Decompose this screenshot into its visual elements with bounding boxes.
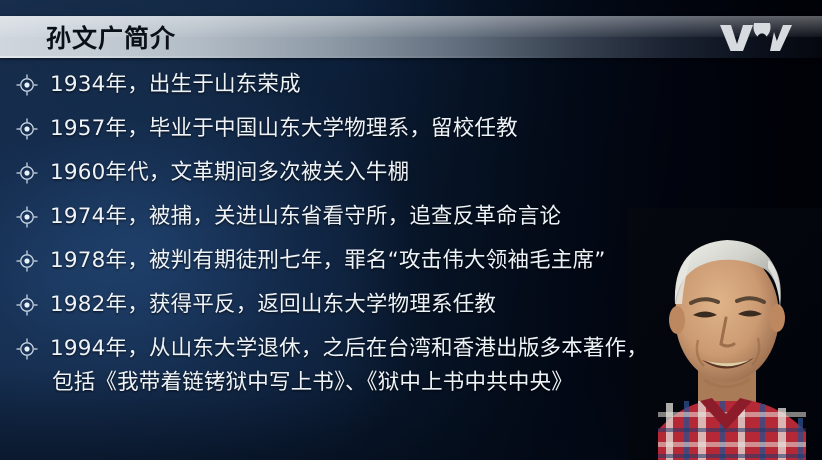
list-item-text: 1934年，出生于山东荣成 [50, 68, 700, 102]
list-item: 1994年，从山东大学退休，之后在台湾和香港出版多本著作， 包括《我带着链铐狱中… [0, 332, 700, 400]
list-item-body: 1957年，毕业于中国山东大学物理系，留校任教 [50, 112, 700, 146]
crosshair-icon [16, 250, 38, 272]
list-item-text-continued: 包括《我带着链铐狱中写上书》、《狱中上书中共中央》 [50, 366, 700, 400]
list-item-text: 1994年，从山东大学退休，之后在台湾和香港出版多本著作， [50, 332, 700, 366]
crosshair-icon [16, 294, 38, 316]
list-item-text: 1957年，毕业于中国山东大学物理系，留校任教 [50, 112, 700, 146]
list-item: 1974年，被捕，关进山东省看守所，追查反革命言论 [0, 200, 700, 234]
list-item-text: 1974年，被捕，关进山东省看守所，追查反革命言论 [50, 200, 700, 234]
list-item-text: 1960年代，文革期间多次被关入牛棚 [50, 156, 700, 190]
list-item: 1934年，出生于山东荣成 [0, 68, 700, 102]
list-item-body: 1994年，从山东大学退休，之后在台湾和香港出版多本著作， 包括《我带着链铐狱中… [50, 332, 700, 400]
presentation-slide: 孙文广简介 [0, 0, 822, 460]
list-item: 1978年，被判有期徒刑七年，罪名“攻击伟大领袖毛主席” [0, 244, 700, 278]
crosshair-icon [16, 338, 38, 360]
list-item-body: 1974年，被捕，关进山东省看守所，追查反革命言论 [50, 200, 700, 234]
list-item-body: 1934年，出生于山东荣成 [50, 68, 700, 102]
page-title: 孙文广简介 [46, 19, 176, 55]
crosshair-icon [16, 118, 38, 140]
list-item-body: 1960年代，文革期间多次被关入牛棚 [50, 156, 700, 190]
list-item: 1957年，毕业于中国山东大学物理系，留校任教 [0, 112, 700, 146]
crosshair-icon [16, 162, 38, 184]
title-bar: 孙文广简介 [0, 16, 822, 58]
crosshair-icon [16, 74, 38, 96]
list-item: 1960年代，文革期间多次被关入牛棚 [0, 156, 700, 190]
crosshair-icon [16, 206, 38, 228]
list-item-text: 1982年，获得平反，返回山东大学物理系任教 [50, 288, 700, 322]
list-item: 1982年，获得平反，返回山东大学物理系任教 [0, 288, 700, 322]
list-item-body: 1978年，被判有期徒刑七年，罪名“攻击伟大领袖毛主席” [50, 244, 700, 278]
bullet-list: 1934年，出生于山东荣成 1957年，毕业于中国山东大学物理系，留校任教 [0, 68, 700, 410]
voa-logo [718, 22, 794, 54]
list-item-body: 1982年，获得平反，返回山东大学物理系任教 [50, 288, 700, 322]
list-item-text: 1978年，被判有期徒刑七年，罪名“攻击伟大领袖毛主席” [50, 244, 700, 278]
